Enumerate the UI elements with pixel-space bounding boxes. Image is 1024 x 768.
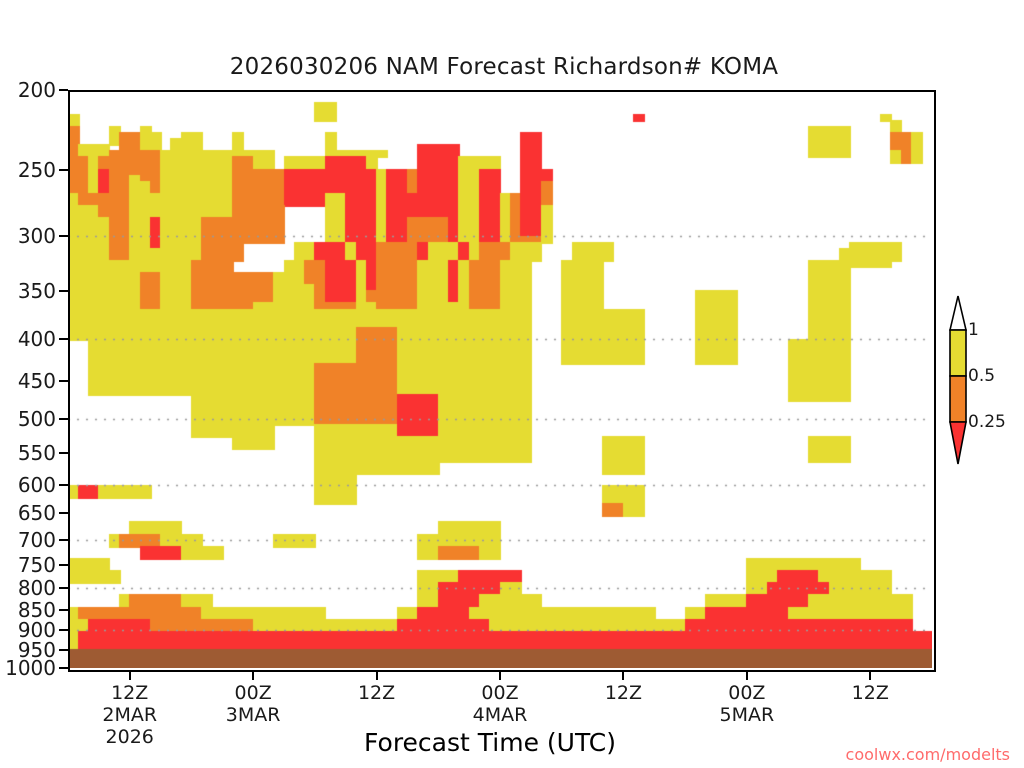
x-tick-label-line: 12Z: [553, 682, 693, 704]
page-title: 2026030206 NAM Forecast Richardson# KOMA: [0, 54, 1024, 80]
x-tick-label-line: 00Z: [430, 682, 570, 704]
y-tick-label: 650: [0, 501, 56, 525]
y-tick-mark: [59, 452, 68, 454]
y-tick-label: 1000: [0, 656, 56, 680]
x-tick-label: 12Z2MAR2026: [60, 682, 200, 748]
y-tick-label: 300: [0, 224, 56, 248]
y-tick-label: 750: [0, 553, 56, 577]
x-tick-mark: [622, 670, 624, 680]
y-tick-label: 800: [0, 576, 56, 600]
colorbar-label: 1: [968, 320, 979, 340]
y-tick-mark: [59, 418, 68, 420]
x-tick-label-line: 5MAR: [677, 704, 817, 726]
x-tick-mark: [376, 670, 378, 680]
y-tick-mark: [59, 235, 68, 237]
x-tick-mark: [746, 670, 748, 680]
y-tick-label: 200: [0, 78, 56, 102]
x-tick-mark: [252, 670, 254, 680]
y-tick-label: 700: [0, 528, 56, 552]
colorbar-label: 0.5: [968, 366, 995, 386]
x-tick-mark: [869, 670, 871, 680]
heatmap-plot-area[interactable]: [68, 90, 932, 668]
x-tick-label: 12Z: [800, 682, 940, 704]
x-tick-label-line: 12Z: [800, 682, 940, 704]
x-tick-label: 12Z: [307, 682, 447, 704]
y-tick-label: 450: [0, 369, 56, 393]
colorbar-legend[interactable]: 10.50.25: [938, 292, 1024, 472]
y-tick-mark: [59, 380, 68, 382]
x-tick-label: 12Z: [553, 682, 693, 704]
x-tick-mark: [499, 670, 501, 680]
y-tick-mark: [59, 667, 68, 669]
y-tick-mark: [59, 609, 68, 611]
y-tick-mark: [59, 649, 68, 651]
watermark: coolwx.com/modelts: [846, 745, 1010, 764]
x-tick-label-line: 12Z: [307, 682, 447, 704]
x-tick-label-line: 3MAR: [183, 704, 323, 726]
y-tick-mark: [59, 512, 68, 514]
y-tick-label: 250: [0, 158, 56, 182]
y-tick-mark: [59, 564, 68, 566]
x-tick-label-line: 4MAR: [430, 704, 570, 726]
x-tick-label-line: 2MAR: [60, 704, 200, 726]
y-tick-mark: [59, 539, 68, 541]
y-tick-mark: [59, 629, 68, 631]
y-tick-label: 550: [0, 441, 56, 465]
x-tick-label: 00Z4MAR: [430, 682, 570, 726]
y-tick-label: 400: [0, 327, 56, 351]
y-tick-mark: [59, 484, 68, 486]
y-tick-mark: [59, 290, 68, 292]
x-tick-label-line: 12Z: [60, 682, 200, 704]
y-tick-label: 600: [0, 473, 56, 497]
y-tick-mark: [59, 169, 68, 171]
x-tick-label-line: 2026: [60, 726, 200, 748]
x-tick-label-line: 00Z: [183, 682, 323, 704]
y-tick-label: 500: [0, 407, 56, 431]
x-tick-label: 00Z3MAR: [183, 682, 323, 726]
x-tick-label-line: 00Z: [677, 682, 817, 704]
x-tick-label: 00Z5MAR: [677, 682, 817, 726]
y-tick-mark: [59, 587, 68, 589]
colorbar-label: 0.25: [968, 412, 1006, 432]
chart-page: 2026030206 NAM Forecast Richardson# KOMA…: [0, 0, 1024, 768]
y-tick-label: 350: [0, 279, 56, 303]
x-axis-title: Forecast Time (UTC): [230, 728, 750, 757]
y-tick-mark: [59, 89, 68, 91]
y-tick-mark: [59, 338, 68, 340]
x-tick-mark: [129, 670, 131, 680]
